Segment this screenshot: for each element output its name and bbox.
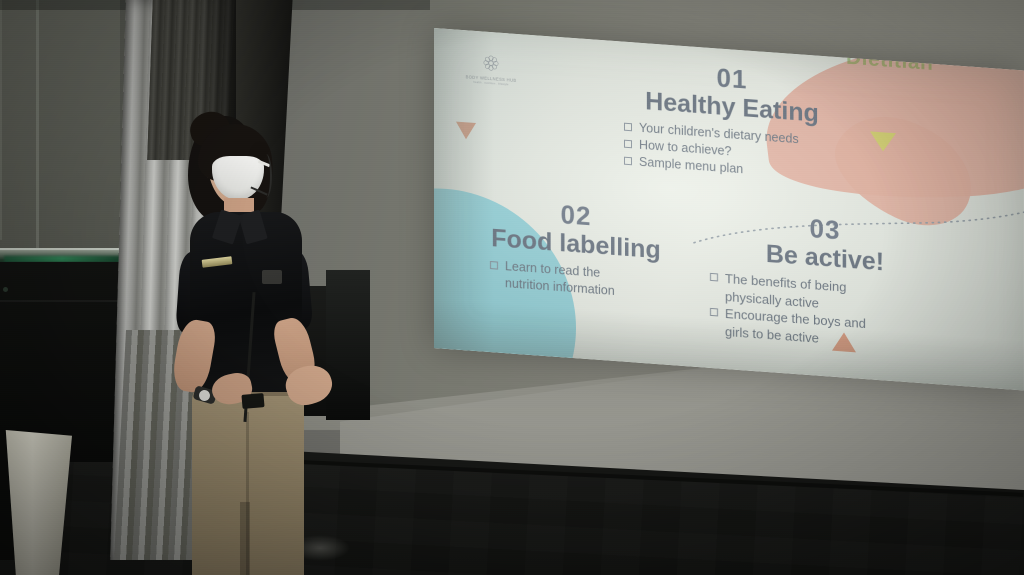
presenter <box>150 112 340 575</box>
shirt-chest-logo-icon <box>262 270 282 284</box>
trouser-leg-split <box>240 502 250 575</box>
cabinet-seam <box>0 300 126 302</box>
cabinet-indicator-icon <box>3 287 8 292</box>
slide-section-01: 01 Healthy Eating Your children's dietar… <box>602 56 862 187</box>
microphone-transmitter <box>241 393 264 409</box>
projection-screen: Dietitian BODY WELLNESS HUB health . nut… <box>434 28 1024 390</box>
presentation-photo: Dietitian BODY WELLNESS HUB health . nut… <box>0 0 1024 575</box>
slide-section-02: 02 Food labelling Learn to read the nutr… <box>486 196 666 304</box>
wall-seam-secondary <box>0 0 2 240</box>
yellow-triangle-icon <box>870 131 896 152</box>
